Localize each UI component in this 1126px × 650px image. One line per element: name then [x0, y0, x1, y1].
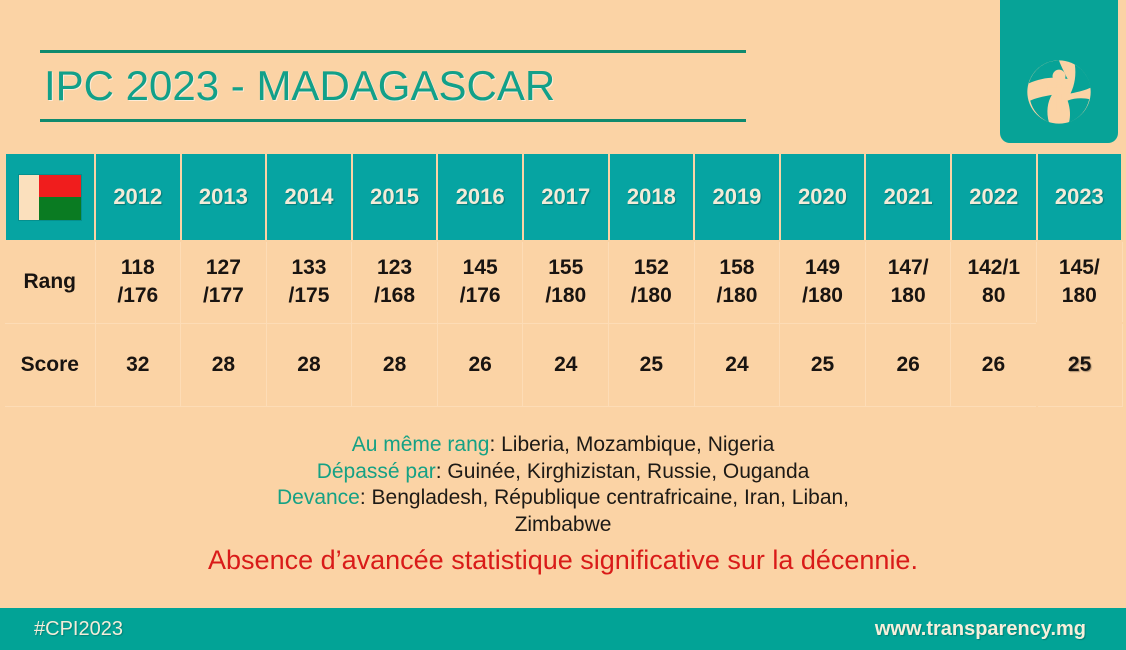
score-cell: 25 [609, 323, 695, 407]
page-title: IPC 2023 - MADAGASCAR [40, 53, 746, 119]
table-header: 2012 2013 2014 2015 2016 2017 2018 2019 … [5, 153, 1122, 241]
rank-value-line1: 127 [181, 254, 266, 282]
score-cell: 24 [694, 323, 780, 407]
rank-value-line2: 180 [866, 282, 951, 310]
note-line-ahead-of: Devance: Bengladesh, République centrafr… [0, 485, 1126, 512]
column-header-year: 2021 [865, 153, 951, 241]
score-cell: 25 [780, 323, 866, 407]
rank-cell: 145 /176 [437, 241, 523, 323]
flag-band-white [19, 175, 39, 220]
rank-cell: 149 /180 [780, 241, 866, 323]
score-cell: 28 [352, 323, 438, 407]
score-cell: 28 [266, 323, 352, 407]
column-header-year: 2014 [266, 153, 352, 241]
logo-panel [1000, 0, 1118, 143]
column-header-year: 2017 [523, 153, 609, 241]
column-header-year: 2020 [780, 153, 866, 241]
rank-value-line2: /180 [695, 282, 780, 310]
rank-value-line1: 133 [267, 254, 352, 282]
column-header-year: 2012 [95, 153, 181, 241]
column-header-year: 2023 [1037, 153, 1123, 241]
rank-value-line1: 118 [96, 254, 181, 282]
rank-cell: 147/ 180 [865, 241, 951, 323]
rank-cell: 127 /177 [181, 241, 267, 323]
rank-value-line1: 149 [780, 254, 865, 282]
note-line-same-rank: Au même rang: Liberia, Mozambique, Niger… [0, 432, 1126, 459]
page-footer: #CPI2023 www.transparency.mg [0, 608, 1126, 650]
flag-graphic [18, 174, 82, 221]
rank-value-line1: 147/ [866, 254, 951, 282]
notes-block: Au même rang: Liberia, Mozambique, Niger… [0, 432, 1126, 538]
note-value-surpassed-by: : Guinée, Kirghizistan, Russie, Ouganda [436, 460, 810, 483]
rank-value-line1: 152 [609, 254, 694, 282]
rank-value-line2: /180 [609, 282, 694, 310]
rank-value-line2: /177 [181, 282, 266, 310]
score-cell: 32 [95, 323, 181, 407]
column-header-year: 2018 [609, 153, 695, 241]
note-label-same-rank: Au même rang [352, 433, 490, 456]
score-cell: 26 [865, 323, 951, 407]
footer-hashtag: #CPI2023 [0, 618, 123, 641]
title-block: IPC 2023 - MADAGASCAR [40, 50, 746, 122]
footer-url[interactable]: www.transparency.mg [875, 618, 1126, 641]
row-label-score: Score [5, 323, 95, 407]
note-value-same-rank: : Liberia, Mozambique, Nigeria [489, 433, 774, 456]
column-header-year: 2016 [437, 153, 523, 241]
score-cell: 28 [181, 323, 267, 407]
rank-value-line1: 123 [352, 254, 437, 282]
rank-value-line1: 158 [695, 254, 780, 282]
column-header-year: 2013 [181, 153, 267, 241]
column-header-year: 2022 [951, 153, 1037, 241]
rank-value-line1: 145/ [1037, 254, 1122, 282]
rank-value-line2: 80 [951, 282, 1036, 310]
note-label-ahead-of: Devance [277, 486, 360, 509]
flag-band-green [39, 197, 81, 220]
rank-value-line2: /180 [523, 282, 608, 310]
page-header: IPC 2023 - MADAGASCAR [0, 0, 1126, 150]
rank-cell: 158 /180 [694, 241, 780, 323]
rank-value-line2: /180 [780, 282, 865, 310]
rank-value-line2: /168 [352, 282, 437, 310]
table-row-score: Score 32 28 28 28 26 24 25 24 25 26 26 2… [5, 323, 1122, 407]
cpi-table: 2012 2013 2014 2015 2016 2017 2018 2019 … [4, 152, 1123, 407]
table-row-rang: Rang 118 /176 127 /177 133 /175 123 /168… [5, 241, 1122, 323]
table-body: Rang 118 /176 127 /177 133 /175 123 /168… [5, 241, 1122, 407]
table-header-row: 2012 2013 2014 2015 2016 2017 2018 2019 … [5, 153, 1122, 241]
flag-band-red [39, 175, 81, 198]
rank-cell: 118 /176 [95, 241, 181, 323]
note-line-surpassed-by: Dépassé par: Guinée, Kirghizistan, Russi… [0, 459, 1126, 486]
rank-cell: 155 /180 [523, 241, 609, 323]
note-line-ahead-of-overflow: Zimbabwe [0, 512, 1126, 539]
title-rule-bottom [40, 119, 746, 122]
note-value-ahead-of: : Bengladesh, République centrafricaine,… [360, 486, 849, 509]
rank-cell: 123 /168 [352, 241, 438, 323]
rank-value-line2: /176 [96, 282, 181, 310]
rank-value-line2: 180 [1037, 282, 1122, 310]
transparency-globe-logo-icon [1023, 56, 1095, 128]
statement-text: Absence d’avancée statistique significat… [0, 545, 1126, 576]
rank-cell: 145/ 180 [1037, 241, 1123, 323]
row-label-rang: Rang [5, 241, 95, 323]
rank-value-line1: 145 [438, 254, 523, 282]
rank-cell: 133 /175 [266, 241, 352, 323]
flag-band-right [39, 175, 81, 220]
rank-value-line1: 155 [523, 254, 608, 282]
column-header-year: 2019 [694, 153, 780, 241]
score-cell: 26 [951, 323, 1037, 407]
column-header-year: 2015 [352, 153, 438, 241]
rank-value-line1: 142/1 [951, 254, 1036, 282]
score-cell: 24 [523, 323, 609, 407]
rank-value-line2: /175 [267, 282, 352, 310]
madagascar-flag-icon [5, 153, 95, 241]
rank-cell: 152 /180 [609, 241, 695, 323]
rank-value-line2: /176 [438, 282, 523, 310]
score-cell-highlighted: 25 [1037, 323, 1123, 407]
note-label-surpassed-by: Dépassé par [317, 460, 436, 483]
rank-cell: 142/1 80 [951, 241, 1037, 323]
score-cell: 26 [437, 323, 523, 407]
